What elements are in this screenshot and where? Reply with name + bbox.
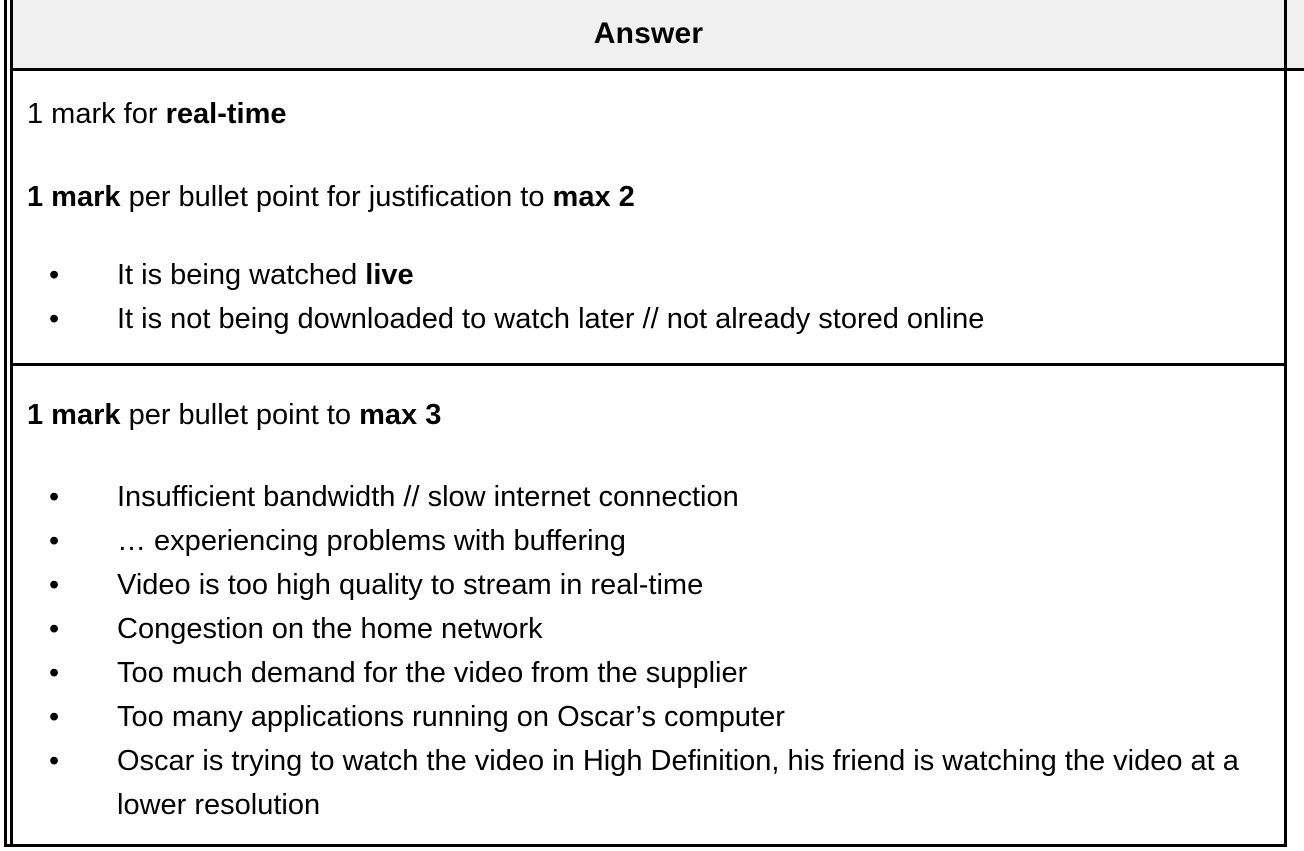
table-bottom-rule: [4, 844, 1287, 847]
list-item: •Too much demand for the video from the …: [27, 651, 1270, 695]
list-item-text-plain: It is being watched: [117, 259, 365, 291]
list-item: •Video is too high quality to stream in …: [27, 563, 1270, 607]
partial-right-column-header: [1287, 0, 1304, 71]
mark-allocation-line-2: 1 mark per bullet point for justificatio…: [27, 183, 1270, 212]
bullet-point-icon: •: [49, 563, 71, 607]
list-item-text-plain: It is not being downloaded to watch late…: [117, 303, 984, 335]
list-item-text: Congestion on the home network: [117, 613, 543, 645]
table-header-answer: Answer: [10, 0, 1287, 71]
list-item: •Too many applications running on Oscar’…: [27, 695, 1270, 739]
mark-line-2-plain-middle: per bullet point for justification to: [121, 181, 553, 213]
list-item-text-bold: live: [365, 259, 413, 291]
mark-line-1-bold-term: real-time: [166, 98, 287, 130]
table-left-margin-rule: [4, 0, 7, 847]
list-item-text: Too much demand for the video from the s…: [117, 657, 747, 689]
table-row: 1 mark per bullet point to max 3 •Insuff…: [10, 366, 1287, 847]
list-item-text: Too many applications running on Oscar’s…: [117, 701, 785, 733]
list-item: •… experiencing problems with buffering: [27, 519, 1270, 563]
bullet-point-icon: •: [49, 695, 71, 739]
answer-cell-1: 1 mark for real-time 1 mark per bullet p…: [13, 100, 1284, 341]
list-item-text: Insufficient bandwidth // slow internet …: [117, 481, 739, 513]
bullet-point-icon: •: [49, 739, 71, 783]
mark-line-3-bold-max: max 3: [359, 399, 441, 431]
list-item: •Insufficient bandwidth // slow internet…: [27, 475, 1270, 519]
partial-right-column-body: [1287, 71, 1304, 847]
list-item-text: Video is too high quality to stream in r…: [117, 569, 703, 601]
mark-allocation-line-1: 1 mark for real-time: [27, 100, 1270, 129]
answer-bullet-list-2: •Insufficient bandwidth // slow internet…: [27, 475, 1270, 827]
answer-column-header-label: Answer: [594, 17, 704, 51]
mark-line-2-bold-prefix: 1 mark: [27, 181, 121, 213]
list-item-text: … experiencing problems with buffering: [117, 525, 626, 557]
partial-right-column: [1287, 0, 1304, 847]
bullet-point-icon: •: [49, 297, 71, 341]
list-item: •It is not being downloaded to watch lat…: [27, 297, 1270, 341]
mark-line-3-plain-middle: per bullet point to: [121, 399, 360, 431]
list-item: •It is being watched live: [27, 253, 1270, 297]
bullet-point-icon: •: [49, 607, 71, 651]
mark-allocation-line-3: 1 mark per bullet point to max 3: [27, 401, 1270, 430]
answer-table: Answer 1 mark for real-time 1 mark per b…: [2, 0, 1304, 847]
bullet-point-icon: •: [49, 475, 71, 519]
list-item: •Congestion on the home network: [27, 607, 1270, 651]
bullet-point-icon: •: [49, 519, 71, 563]
bullet-point-icon: •: [49, 253, 71, 297]
bullet-point-icon: •: [49, 651, 71, 695]
list-item: •Oscar is trying to watch the video in H…: [27, 739, 1270, 827]
mark-line-1-plain-prefix: 1 mark for: [27, 98, 166, 130]
mark-scheme-table-page: Answer 1 mark for real-time 1 mark per b…: [0, 0, 1304, 851]
table-row: 1 mark for real-time 1 mark per bullet p…: [10, 71, 1287, 366]
mark-line-3-bold-prefix: 1 mark: [27, 399, 121, 431]
list-item-text: Oscar is trying to watch the video in Hi…: [117, 745, 1239, 821]
answer-bullet-list-1: •It is being watched live •It is not bei…: [27, 253, 1270, 341]
answer-cell-2: 1 mark per bullet point to max 3 •Insuff…: [13, 401, 1284, 827]
mark-line-2-bold-max: max 2: [553, 181, 635, 213]
